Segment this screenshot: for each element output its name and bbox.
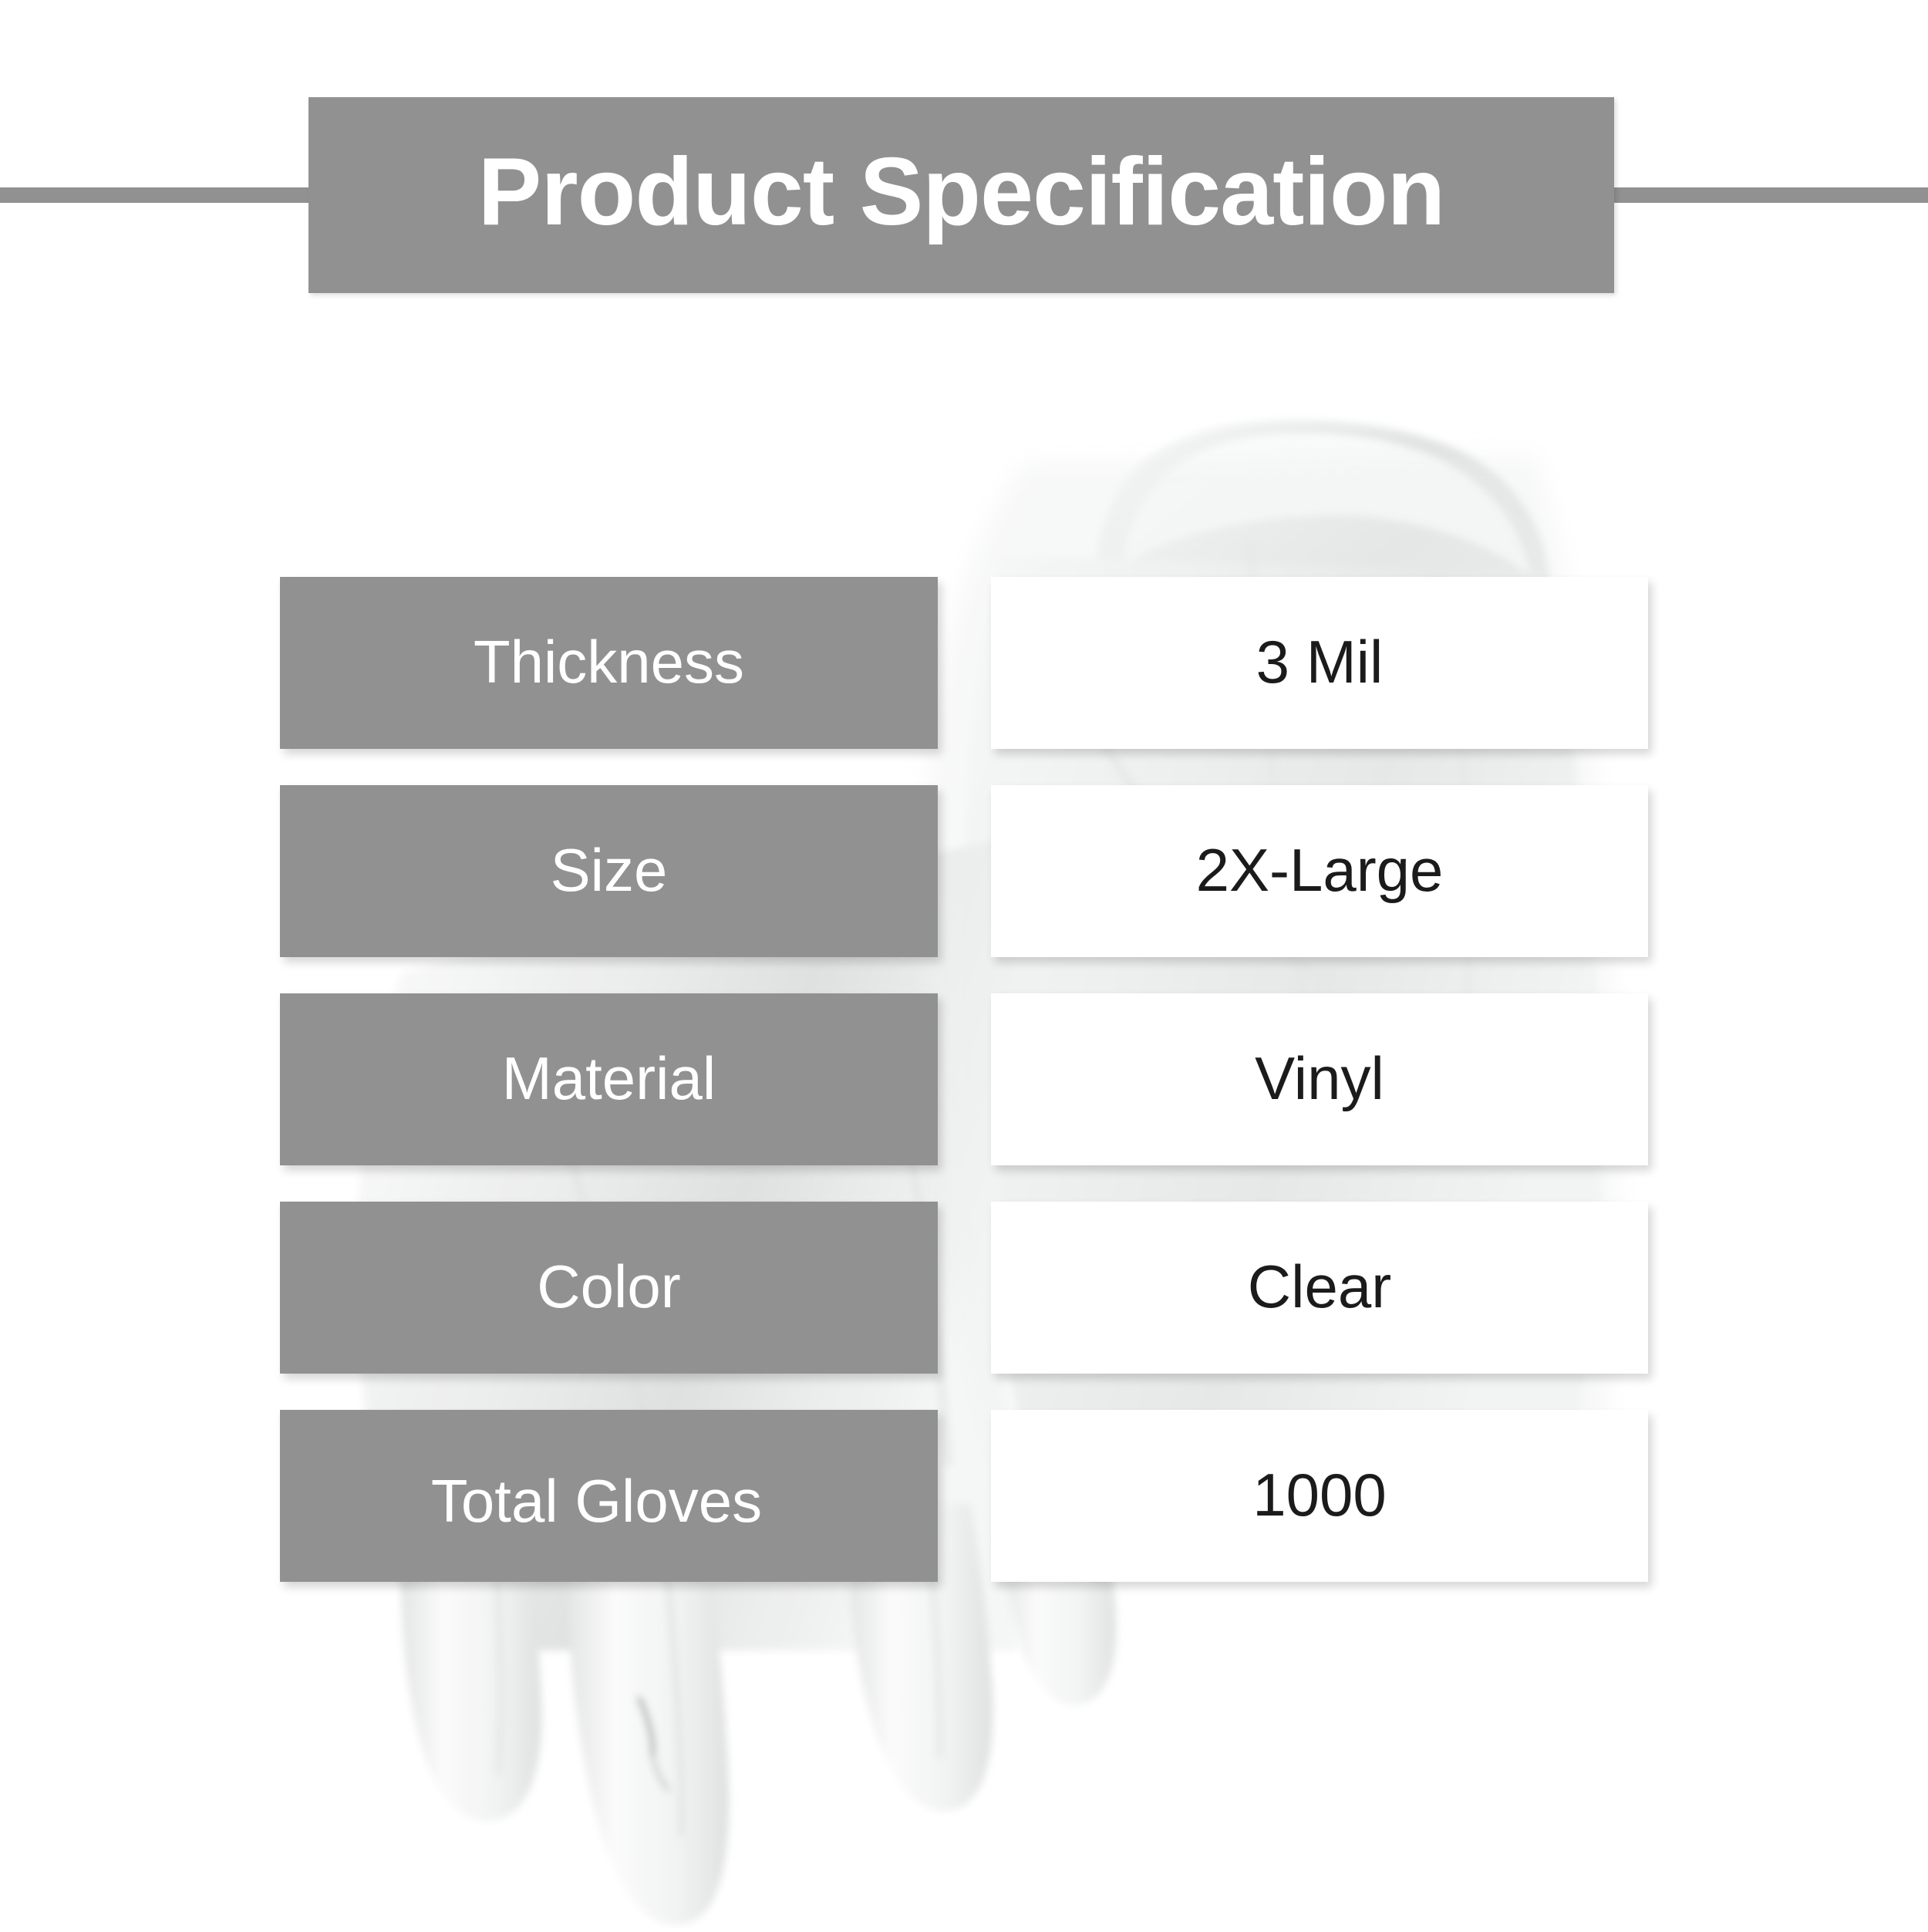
spec-value-text: Clear <box>1248 1256 1391 1317</box>
spec-label-text: Material <box>502 1048 716 1108</box>
spec-label-cell: Color <box>280 1202 938 1374</box>
spec-label-text: Thickness <box>474 632 744 692</box>
spec-label-text: Total Gloves <box>431 1471 762 1531</box>
table-row: Size 2X-Large <box>0 785 1928 957</box>
spec-label-text: Size <box>551 840 668 900</box>
spec-label-cell: Material <box>280 993 938 1165</box>
table-row: Total Gloves 1000 <box>0 1410 1928 1582</box>
spec-table: Thickness 3 Mil Size 2X-Large Material V… <box>0 0 1928 1928</box>
table-row: Material Vinyl <box>0 993 1928 1165</box>
spec-label-cell: Thickness <box>280 577 938 749</box>
table-row: Color Clear <box>0 1202 1928 1374</box>
spec-value-cell: 1000 <box>991 1410 1648 1582</box>
table-row: Thickness 3 Mil <box>0 577 1928 749</box>
spec-value-text: 3 Mil <box>1256 632 1384 692</box>
spec-value-cell: Vinyl <box>991 993 1648 1165</box>
spec-value-cell: 3 Mil <box>991 577 1648 749</box>
spec-value-cell: 2X-Large <box>991 785 1648 957</box>
spec-label-cell: Total Gloves <box>280 1410 938 1582</box>
spec-value-text: 1000 <box>1252 1465 1387 1525</box>
spec-label-cell: Size <box>280 785 938 957</box>
spec-value-cell: Clear <box>991 1202 1648 1374</box>
spec-label-text: Color <box>537 1256 680 1317</box>
spec-value-text: Vinyl <box>1255 1048 1384 1108</box>
spec-value-text: 2X-Large <box>1196 840 1444 900</box>
